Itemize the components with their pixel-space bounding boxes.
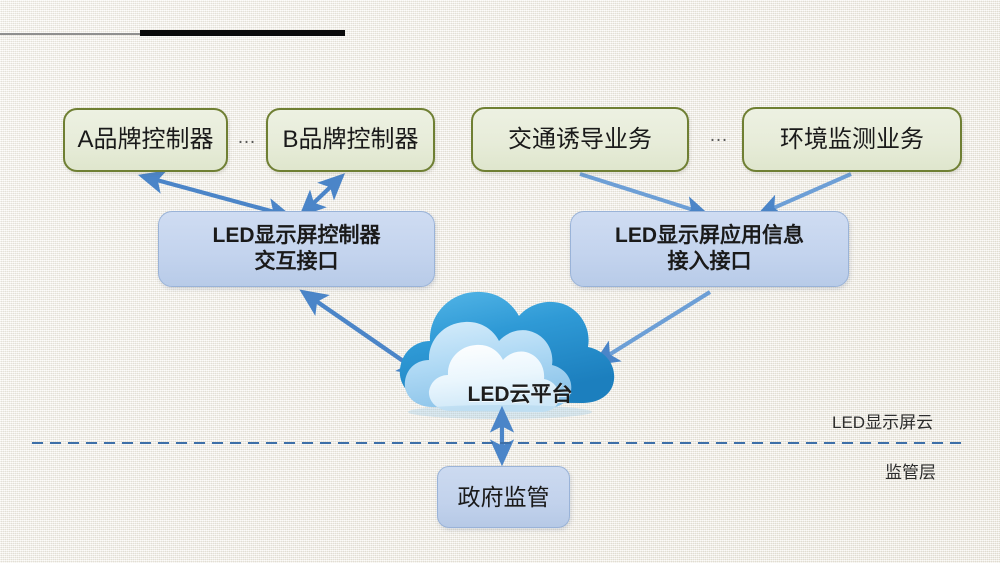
ellipsis-controllers: … [237, 128, 258, 147]
node-government-supervision[interactable]: 政府监管 [437, 466, 570, 528]
node-brand-b-controller[interactable]: B品牌控制器 [266, 108, 435, 172]
node-controller-interaction-interface[interactable]: LED显示屏控制器 交互接口 [158, 211, 435, 287]
node-brand-b-label: B品牌控制器 [282, 125, 418, 154]
node-environment-label: 环境监测业务 [780, 125, 924, 154]
arrow-interface-right-to-cloud [596, 292, 710, 363]
arrow-traffic-to-interface-right [580, 174, 706, 214]
top-rule-thick [140, 30, 345, 36]
cloud-platform-label: LED云平台 [455, 378, 585, 408]
node-interface-right-label: LED显示屏应用信息 接入接口 [615, 223, 804, 274]
ellipsis-services: … [709, 126, 730, 145]
slide-canvas: A品牌控制器 … B品牌控制器 交通诱导业务 … 环境监测业务 LED显示屏控制… [0, 0, 1000, 563]
node-brand-a-controller[interactable]: A品牌控制器 [63, 108, 228, 172]
node-environment-monitoring-service[interactable]: 环境监测业务 [742, 107, 962, 172]
layer-label-cloud: LED显示屏云 [832, 408, 933, 433]
node-application-info-access-interface[interactable]: LED显示屏应用信息 接入接口 [570, 211, 849, 287]
layer-label-supervision: 监管层 [885, 458, 936, 483]
node-traffic-guidance-service[interactable]: 交通诱导业务 [471, 107, 689, 172]
arrow-brand-a-to-interface-left [142, 176, 289, 216]
arrow-brand-b-to-interface-left [302, 176, 342, 214]
top-rule-thin [0, 33, 142, 35]
arrow-interface-left-to-cloud [303, 292, 422, 374]
arrow-environment-to-interface-right [760, 174, 851, 214]
node-interface-left-label: LED显示屏控制器 交互接口 [213, 223, 381, 274]
node-government-label: 政府监管 [458, 483, 550, 511]
node-brand-a-label: A品牌控制器 [77, 125, 213, 154]
node-traffic-label: 交通诱导业务 [508, 125, 652, 154]
